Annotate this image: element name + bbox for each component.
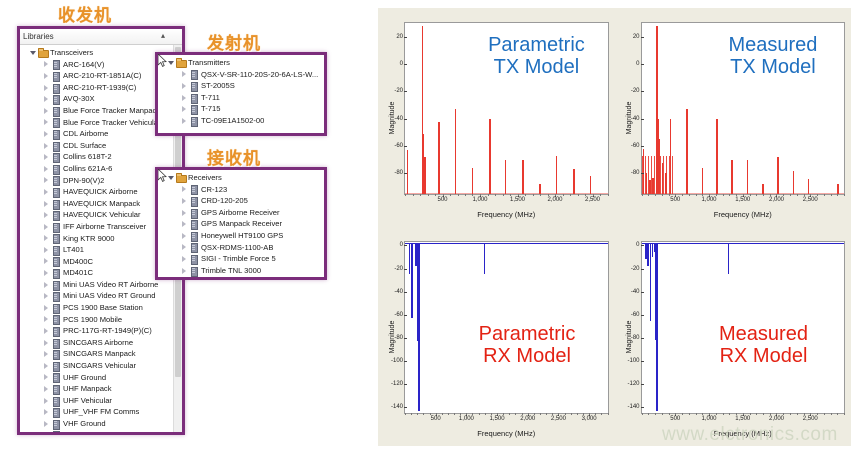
library-browser-region: 收发机 发射机 接收机 Libraries ▴ TransceiversARC-… <box>0 0 372 452</box>
expander-closed-icon[interactable] <box>42 281 50 289</box>
tree-item-label: SINCGARS Airborne <box>63 337 133 349</box>
device-icon <box>51 72 60 80</box>
tree-item[interactable]: DPN-90(V)2 <box>20 175 173 187</box>
tree-item-label: UHF Vehicular <box>63 395 112 407</box>
y-axis-tick-label: -80 <box>631 170 640 176</box>
transmitters-tree[interactable]: TransmittersQSX-V-SR-110-20S-20-6A-LS-W.… <box>158 55 324 127</box>
device-icon <box>51 373 60 381</box>
spectrum-spike <box>418 243 420 411</box>
device-icon <box>51 223 60 231</box>
expander-closed-icon[interactable] <box>42 339 50 347</box>
expander-closed-icon[interactable] <box>42 408 50 416</box>
x-axis-minor-tick <box>435 194 436 196</box>
x-axis-minor-tick <box>669 194 670 196</box>
tree-item[interactable]: AVQ-30X <box>20 93 173 105</box>
x-axis-minor-tick <box>763 413 764 415</box>
expander-closed-icon[interactable] <box>42 60 50 68</box>
tree-item-label: HAVEQUICK Airborne <box>63 186 138 198</box>
x-axis-minor-tick <box>472 194 473 196</box>
y-axis-tick-label: -60 <box>394 312 403 318</box>
spectrum-spike <box>539 184 541 194</box>
device-icon <box>51 327 60 335</box>
x-axis-minor-tick <box>696 194 697 196</box>
tree-item-label: MD400C <box>63 256 93 268</box>
spectrum-spike <box>662 163 664 194</box>
expander-closed-icon[interactable] <box>42 200 50 208</box>
expander-closed-icon[interactable] <box>42 84 50 92</box>
x-axis-tick-label: 2,500 <box>551 416 566 422</box>
tree-item[interactable]: ARC-210-RT-1939(C) <box>20 82 173 94</box>
expander-closed-icon[interactable] <box>42 107 50 115</box>
trace-baseline <box>642 243 845 244</box>
expander-open-icon[interactable] <box>167 59 175 67</box>
tree-item[interactable]: QSX-RDMS-1100-AB <box>158 242 324 254</box>
plot-area: 0-20-40-60-80-100-120-1405001,0001,5002,… <box>404 241 609 414</box>
tree-root-label: Receivers <box>188 172 222 184</box>
tree-root-transceivers[interactable]: Transceivers <box>20 47 173 59</box>
tree-item[interactable]: HAVEQUICK Manpack <box>20 198 173 210</box>
x-axis-minor-tick <box>824 413 825 415</box>
tree-item[interactable]: Blue Force Tracker Manpack <box>20 105 173 117</box>
x-axis-minor-tick <box>655 413 656 415</box>
x-axis-minor-tick <box>522 413 523 415</box>
x-axis-minor-tick <box>533 194 534 196</box>
x-axis-tick-label: 1,500 <box>735 197 750 203</box>
expander-closed-icon[interactable] <box>42 234 50 242</box>
x-axis-tick-label: 1,000 <box>701 416 716 422</box>
x-axis-minor-tick <box>595 413 596 415</box>
expander-closed-icon[interactable] <box>180 267 188 275</box>
expander-closed-icon[interactable] <box>42 327 50 335</box>
x-axis-tick-label: 1,000 <box>459 416 474 422</box>
expander-closed-icon[interactable] <box>42 72 50 80</box>
device-icon <box>189 243 198 251</box>
expander-closed-icon[interactable] <box>180 232 188 240</box>
tree-item[interactable]: VHF Manpack <box>20 430 173 432</box>
expander-closed-icon[interactable] <box>42 118 50 126</box>
x-axis-minor-tick <box>585 194 586 196</box>
expander-closed-icon[interactable] <box>42 397 50 405</box>
expander-closed-icon[interactable] <box>180 82 188 90</box>
tree-item[interactable]: SIGI - Trimble Force 5 <box>158 253 324 265</box>
tree-root-label: Transceivers <box>50 47 93 59</box>
tree-item[interactable]: HAVEQUICK Airborne <box>20 186 173 198</box>
spectrum-spike <box>649 180 651 194</box>
x-axis-minor-tick <box>682 194 683 196</box>
spectrum-spike <box>505 160 507 194</box>
tree-item[interactable]: ARC-210-RT-1851A(C) <box>20 70 173 82</box>
expander-closed-icon[interactable] <box>42 142 50 150</box>
chart-measured-rx: 0-20-40-60-80-100-120-1405001,0001,5002,… <box>615 227 852 446</box>
x-axis-minor-tick <box>450 194 451 196</box>
x-axis-tick-label: 2,000 <box>769 197 784 203</box>
x-axis-minor-tick <box>675 194 676 196</box>
tree-item-label: UHF Manpack <box>63 383 112 395</box>
folder-icon <box>176 174 185 182</box>
tree-item[interactable]: Collins 621A-6 <box>20 163 173 175</box>
spectrum-spike <box>556 156 558 194</box>
spectrum-spike <box>656 243 658 411</box>
tree-item-label: GPS Airborne Receiver <box>201 207 280 219</box>
tree-item[interactable]: PCS 1900 Base Station <box>20 302 173 314</box>
x-axis-minor-tick <box>608 194 609 196</box>
x-axis-tick-label: 1,500 <box>490 416 505 422</box>
device-icon <box>51 431 60 432</box>
spectrum-spike <box>793 171 795 194</box>
x-axis-minor-tick <box>770 194 771 196</box>
expander-closed-icon[interactable] <box>180 70 188 78</box>
x-axis-minor-tick <box>743 413 744 415</box>
x-axis-minor-tick <box>448 413 449 415</box>
x-axis-minor-tick <box>454 413 455 415</box>
device-icon <box>189 197 198 205</box>
x-axis-minor-tick <box>534 413 535 415</box>
x-axis-minor-tick <box>465 194 466 196</box>
tree-item-label: CR-123 <box>201 184 227 196</box>
x-axis-tick-label: 2,000 <box>547 197 562 203</box>
x-axis-minor-tick <box>601 413 602 415</box>
x-axis-minor-tick <box>480 194 481 196</box>
x-axis-minor-tick <box>810 194 811 196</box>
y-axis-tick-label: -20 <box>631 88 640 94</box>
x-axis-label: Frequency (MHz) <box>404 210 609 219</box>
spectrum-spike <box>658 139 660 194</box>
expander-closed-icon[interactable] <box>180 185 188 193</box>
device-icon <box>51 281 60 289</box>
tree-item[interactable]: Trimble TNL 3000 <box>158 265 324 277</box>
tree-item[interactable]: Mini UAS Video RT Airborne <box>20 279 173 291</box>
x-axis-tick-label: 2,500 <box>803 416 818 422</box>
tree-item-label: SIGI - Trimble Force 5 <box>201 253 276 265</box>
tree-item[interactable]: King KTR 9000 <box>20 233 173 245</box>
expander-closed-icon[interactable] <box>180 117 188 125</box>
device-icon <box>51 397 60 405</box>
device-icon <box>51 269 60 277</box>
tree-item-label: PCS 1900 Base Station <box>63 302 143 314</box>
x-axis-minor-tick <box>709 194 710 196</box>
plot-wrap: 0-20-40-60-80-100-120-1405001,0001,5002,… <box>404 241 609 414</box>
expander-closed-icon[interactable] <box>42 350 50 358</box>
tree-item-label: Collins 618T-2 <box>63 151 112 163</box>
plot-wrap: 200-20-40-60-805001,0001,5002,0002,500 <box>404 22 609 195</box>
x-axis-minor-tick <box>702 194 703 196</box>
expander-closed-icon[interactable] <box>42 223 50 231</box>
x-axis-minor-tick <box>546 413 547 415</box>
device-icon <box>51 211 60 219</box>
x-axis-minor-tick <box>495 194 496 196</box>
tree-item-label: Trimble TNL 3000 <box>201 265 261 277</box>
x-axis-minor-tick <box>509 413 510 415</box>
spectrum-spike <box>731 160 733 194</box>
spectrum-spike <box>438 122 440 195</box>
tree-item-label: QSX-V-SR-110-20S-20-6A-LS-W... <box>201 69 318 81</box>
plot-area: 200-20-40-60-805001,0001,5002,0002,500 <box>404 22 609 195</box>
tree-item-label: HAVEQUICK Manpack <box>63 198 140 210</box>
tree-item-label: Mini UAS Video RT Airborne <box>63 279 158 291</box>
device-icon <box>51 165 60 173</box>
x-axis-minor-tick <box>682 413 683 415</box>
spectrum-spike <box>670 119 672 194</box>
tree-item[interactable]: CR-123 <box>158 184 324 196</box>
x-axis-minor-tick <box>491 413 492 415</box>
device-icon <box>51 362 60 370</box>
x-axis-minor-tick <box>655 194 656 196</box>
device-icon <box>51 84 60 92</box>
x-axis-minor-tick <box>540 413 541 415</box>
device-icon <box>189 185 198 193</box>
tree-item[interactable]: CDL Airborne <box>20 128 173 140</box>
tree-item[interactable]: LT401 <box>20 244 173 256</box>
tree-item[interactable]: QSX-V-SR-110-20S-20-6A-LS-W... <box>158 69 324 81</box>
x-axis-tick-label: 2,500 <box>585 197 600 203</box>
spectrum-spike <box>808 179 810 194</box>
x-axis-minor-tick <box>518 194 519 196</box>
x-axis-minor-tick <box>736 413 737 415</box>
plot-wrap: 0-20-40-60-80-100-120-1405001,0001,5002,… <box>641 241 846 414</box>
spectrum-spike <box>455 109 457 194</box>
device-icon <box>51 246 60 254</box>
y-axis-tick-label: -20 <box>394 88 403 94</box>
tree-item[interactable]: Collins 618T-2 <box>20 151 173 163</box>
chart-parametric-rx: 0-20-40-60-80-100-120-1405001,0001,5002,… <box>378 227 615 446</box>
x-axis-tick-label: 3,000 <box>582 416 597 422</box>
expander-closed-icon[interactable] <box>42 153 50 161</box>
expander-closed-icon[interactable] <box>42 188 50 196</box>
spectrum-spike <box>643 149 645 194</box>
x-axis-minor-tick <box>675 413 676 415</box>
expander-closed-icon[interactable] <box>180 209 188 217</box>
expander-closed-icon[interactable] <box>42 95 50 103</box>
tree-item[interactable]: SINCGARS Manpack <box>20 348 173 360</box>
expander-closed-icon[interactable] <box>42 246 50 254</box>
tree-item[interactable]: UHF Manpack <box>20 383 173 395</box>
transmitters-panel: TransmittersQSX-V-SR-110-20S-20-6A-LS-W.… <box>155 52 327 136</box>
expander-closed-icon[interactable] <box>42 211 50 219</box>
receivers-tree[interactable]: ReceiversCR-123CRD-120-205GPS Airborne R… <box>158 170 324 276</box>
x-axis-minor-tick <box>420 194 421 196</box>
spectrum-spike <box>716 119 718 194</box>
y-axis-tick-label: -120 <box>627 381 639 387</box>
tree-item-label: Mini UAS Video RT Ground <box>63 290 155 302</box>
mouse-cursor-icon <box>158 54 167 67</box>
x-axis-minor-tick <box>844 194 845 196</box>
y-axis-tick-label: -100 <box>391 358 403 364</box>
x-axis-minor-tick <box>497 413 498 415</box>
tree-item[interactable]: GPS Airborne Receiver <box>158 207 324 219</box>
expander-closed-icon[interactable] <box>42 373 50 381</box>
expander-closed-icon[interactable] <box>180 243 188 251</box>
expander-closed-icon[interactable] <box>180 255 188 263</box>
x-axis-minor-tick <box>831 194 832 196</box>
auto-hide-pin-icon[interactable]: ▴ <box>158 31 168 41</box>
annotation-transceivers-cn: 收发机 <box>58 1 112 26</box>
tree-item[interactable]: Honeywell HT9100 GPS <box>158 230 324 242</box>
tree-item[interactable]: HAVEQUICK Vehicular <box>20 209 173 221</box>
spectrum-spike <box>422 134 424 194</box>
spectrum-spike <box>777 157 779 194</box>
tree-item[interactable]: UHF_VHF FM Comms <box>20 406 173 418</box>
expander-closed-icon[interactable] <box>42 420 50 428</box>
expander-closed-icon[interactable] <box>42 292 50 300</box>
x-axis-minor-tick <box>817 413 818 415</box>
chart-measured-tx: 200-20-40-60-805001,0001,5002,0002,500Ma… <box>615 8 852 227</box>
device-icon <box>51 315 60 323</box>
device-icon <box>51 95 60 103</box>
x-axis-minor-tick <box>436 413 437 415</box>
y-axis-tick-label: -100 <box>627 358 639 364</box>
expander-closed-icon[interactable] <box>42 130 50 138</box>
tree-item[interactable]: IFF Airborne Transceiver <box>20 221 173 233</box>
tree-root-receivers[interactable]: Receivers <box>158 172 324 184</box>
device-icon <box>51 257 60 265</box>
y-axis-tick-label: -60 <box>631 143 640 149</box>
device-icon <box>51 385 60 393</box>
tree-item-label: QSX-RDMS-1100-AB <box>201 242 273 254</box>
x-axis-minor-tick <box>662 413 663 415</box>
x-axis-minor-tick <box>716 194 717 196</box>
device-icon <box>51 339 60 347</box>
x-axis-minor-tick <box>783 194 784 196</box>
x-axis-minor-tick <box>466 413 467 415</box>
tree-item[interactable]: CDL Surface <box>20 140 173 152</box>
spectrum-spike <box>728 243 730 274</box>
tree-item[interactable]: VHF Ground <box>20 418 173 430</box>
tree-item[interactable]: UHF Ground <box>20 372 173 384</box>
device-icon <box>51 408 60 416</box>
tree-item[interactable]: GPS Manpack Receiver <box>158 218 324 230</box>
tree-item-label: Blue Force Tracker Vehicular <box>63 117 161 129</box>
device-icon <box>51 304 60 312</box>
y-axis-tick-label: -40 <box>394 289 403 295</box>
x-axis-minor-tick <box>555 194 556 196</box>
x-axis-minor-tick <box>797 413 798 415</box>
tree-item[interactable]: MD401C <box>20 267 173 279</box>
spectrum-spike <box>647 243 649 266</box>
expander-closed-icon[interactable] <box>42 304 50 312</box>
y-axis-label: Magnitude <box>389 101 396 134</box>
tree-item[interactable]: Mini UAS Video RT Ground <box>20 290 173 302</box>
x-axis-minor-tick <box>776 413 777 415</box>
tree-item[interactable]: TC-09E1A1502-00 <box>158 115 324 127</box>
tree-item-label: TC-09E1A1502-00 <box>201 115 264 127</box>
expander-open-icon[interactable] <box>167 174 175 182</box>
tree-item-label: ARC-164(V) <box>63 59 104 71</box>
x-axis-tick-label: 1,500 <box>510 197 525 203</box>
x-axis-minor-tick <box>648 194 649 196</box>
y-axis-tick-label: 20 <box>633 34 640 40</box>
x-axis-minor-tick <box>608 413 609 415</box>
expander-closed-icon[interactable] <box>180 105 188 113</box>
tree-item[interactable]: T-711 <box>158 92 324 104</box>
tree-item[interactable]: PCS 1900 Mobile <box>20 314 173 326</box>
tree-item-label: DPN-90(V)2 <box>63 175 104 187</box>
x-axis-minor-tick <box>756 413 757 415</box>
tree-item-label: UHF_VHF FM Comms <box>63 406 139 418</box>
x-axis-minor-tick <box>837 413 838 415</box>
spectrum-spike <box>573 169 575 194</box>
tree-item[interactable]: SINCGARS Vehicular <box>20 360 173 372</box>
x-axis-minor-tick <box>763 194 764 196</box>
expander-closed-icon[interactable] <box>42 269 50 277</box>
y-axis-tick-label: -140 <box>391 404 403 410</box>
expander-closed-icon[interactable] <box>42 385 50 393</box>
tree-item-label: ST-2005S <box>201 80 235 92</box>
y-axis-tick-label: -20 <box>394 266 403 272</box>
tree-item[interactable]: ST-2005S <box>158 80 324 92</box>
x-axis-minor-tick <box>577 413 578 415</box>
device-icon <box>51 350 60 358</box>
tree-item-label: Blue Force Tracker Manpack <box>63 105 160 117</box>
tree-item[interactable]: CRD-120-205 <box>158 195 324 207</box>
device-icon <box>189 209 198 217</box>
expander-closed-icon[interactable] <box>42 362 50 370</box>
device-icon <box>51 107 60 115</box>
tree-item-label: AVQ-30X <box>63 93 95 105</box>
annotation-transmitters-cn: 发射机 <box>207 29 261 54</box>
spectrum-spike <box>484 243 486 274</box>
folder-icon <box>176 59 185 67</box>
tree-item[interactable]: SINCGARS Airborne <box>20 337 173 349</box>
expander-closed-icon[interactable] <box>42 176 50 184</box>
tree-item-label: T-711 <box>201 92 220 104</box>
x-axis-minor-tick <box>642 194 643 196</box>
y-axis-label: Magnitude <box>625 320 632 353</box>
x-axis-minor-tick <box>669 413 670 415</box>
tree-item[interactable]: ARC-164(V) <box>20 59 173 71</box>
expander-closed-icon[interactable] <box>42 315 50 323</box>
x-axis-minor-tick <box>743 194 744 196</box>
tree-item[interactable]: PRC-117G-RT-1949(P)(C) <box>20 325 173 337</box>
tree-root-transmitters[interactable]: Transmitters <box>158 57 324 69</box>
y-axis-tick-label: 0 <box>636 242 639 248</box>
x-axis-minor-tick <box>729 194 730 196</box>
mouse-cursor-icon <box>158 169 167 182</box>
plot-area: 200-20-40-60-805001,0001,5002,0002,500 <box>641 22 846 195</box>
x-axis-minor-tick <box>589 413 590 415</box>
tree-item[interactable]: UHF Vehicular <box>20 395 173 407</box>
device-icon <box>51 118 60 126</box>
expander-closed-icon[interactable] <box>42 257 50 265</box>
expander-closed-icon[interactable] <box>180 94 188 102</box>
spectrum-spike <box>702 168 704 194</box>
expander-open-icon[interactable] <box>29 49 37 57</box>
transceivers-tree[interactable]: TransceiversARC-164(V)ARC-210-RT-1851A(C… <box>20 45 173 432</box>
device-icon <box>51 200 60 208</box>
x-axis-minor-tick <box>503 194 504 196</box>
x-axis-minor-tick <box>405 413 406 415</box>
x-axis-minor-tick <box>405 194 406 196</box>
x-axis-tick-label: 500 <box>670 416 680 422</box>
tree-item[interactable]: Blue Force Tracker Vehicular <box>20 117 173 129</box>
x-axis-minor-tick <box>723 194 724 196</box>
tree-item-label: HAVEQUICK Vehicular <box>63 209 141 221</box>
expander-closed-icon[interactable] <box>180 197 188 205</box>
tree-item[interactable]: T-715 <box>158 103 324 115</box>
expander-closed-icon[interactable] <box>42 431 50 432</box>
x-axis-minor-tick <box>600 194 601 196</box>
tree-item-label: SINCGARS Manpack <box>63 348 136 360</box>
x-axis-minor-tick <box>716 413 717 415</box>
expander-closed-icon[interactable] <box>180 220 188 228</box>
tree-item[interactable]: MD400C <box>20 256 173 268</box>
tree-item-label: GPS Manpack Receiver <box>201 218 282 230</box>
annotation-receivers-cn: 接收机 <box>207 144 261 169</box>
expander-closed-icon[interactable] <box>42 165 50 173</box>
x-axis-minor-tick <box>563 194 564 196</box>
x-axis-minor-tick <box>525 194 526 196</box>
x-axis-minor-tick <box>750 413 751 415</box>
device-icon <box>189 220 198 228</box>
